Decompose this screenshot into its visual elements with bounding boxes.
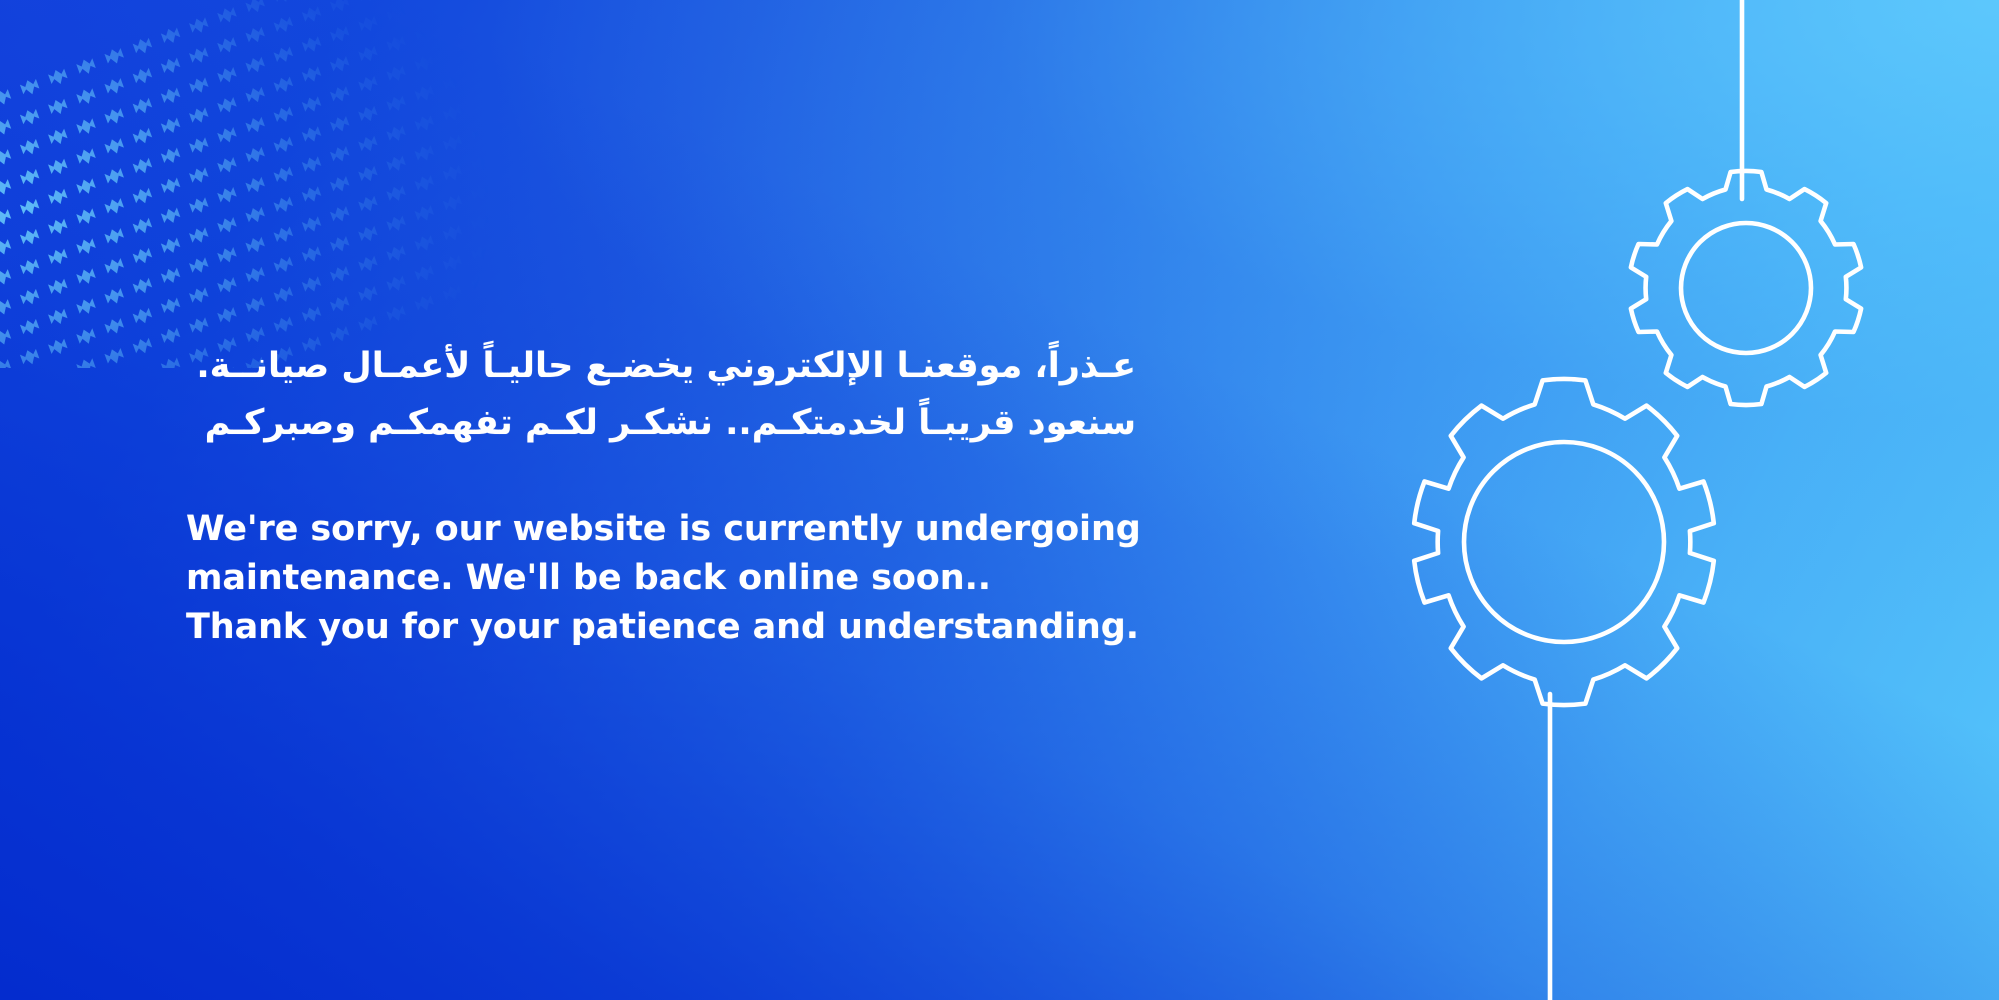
english-message-line-2: maintenance. We'll be back online soon.. xyxy=(186,554,1186,603)
small-gear-hub xyxy=(1681,223,1811,353)
small-gear xyxy=(1631,171,1861,405)
arabic-message: عـذراً، موقعنـا الإلكتروني يخضـع حاليـاً… xyxy=(186,338,1136,451)
large-gear-body xyxy=(1414,379,1714,705)
english-message-line-3: Thank you for your patience and understa… xyxy=(186,603,1186,652)
maintenance-message: عـذراً، موقعنـا الإلكتروني يخضـع حاليـاً… xyxy=(186,338,1186,652)
english-message-line-1: We're sorry, our website is currently un… xyxy=(186,505,1186,554)
small-gear-body xyxy=(1631,171,1861,405)
maintenance-page: عـذراً، موقعنـا الإلكتروني يخضـع حاليـاً… xyxy=(0,0,1999,1000)
large-gear xyxy=(1414,379,1714,705)
tulip-pattern-decoration xyxy=(0,0,502,368)
large-gear-hub xyxy=(1464,442,1664,642)
arabic-message-line-2: سنعود قريبـاً لخدمتكـم.. نشكـر لكـم تفهم… xyxy=(186,395,1136,452)
arabic-message-line-1: عـذراً، موقعنـا الإلكتروني يخضـع حاليـاً… xyxy=(186,338,1136,395)
english-message: We're sorry, our website is currently un… xyxy=(186,505,1186,652)
gear-illustration xyxy=(1230,0,1999,1000)
